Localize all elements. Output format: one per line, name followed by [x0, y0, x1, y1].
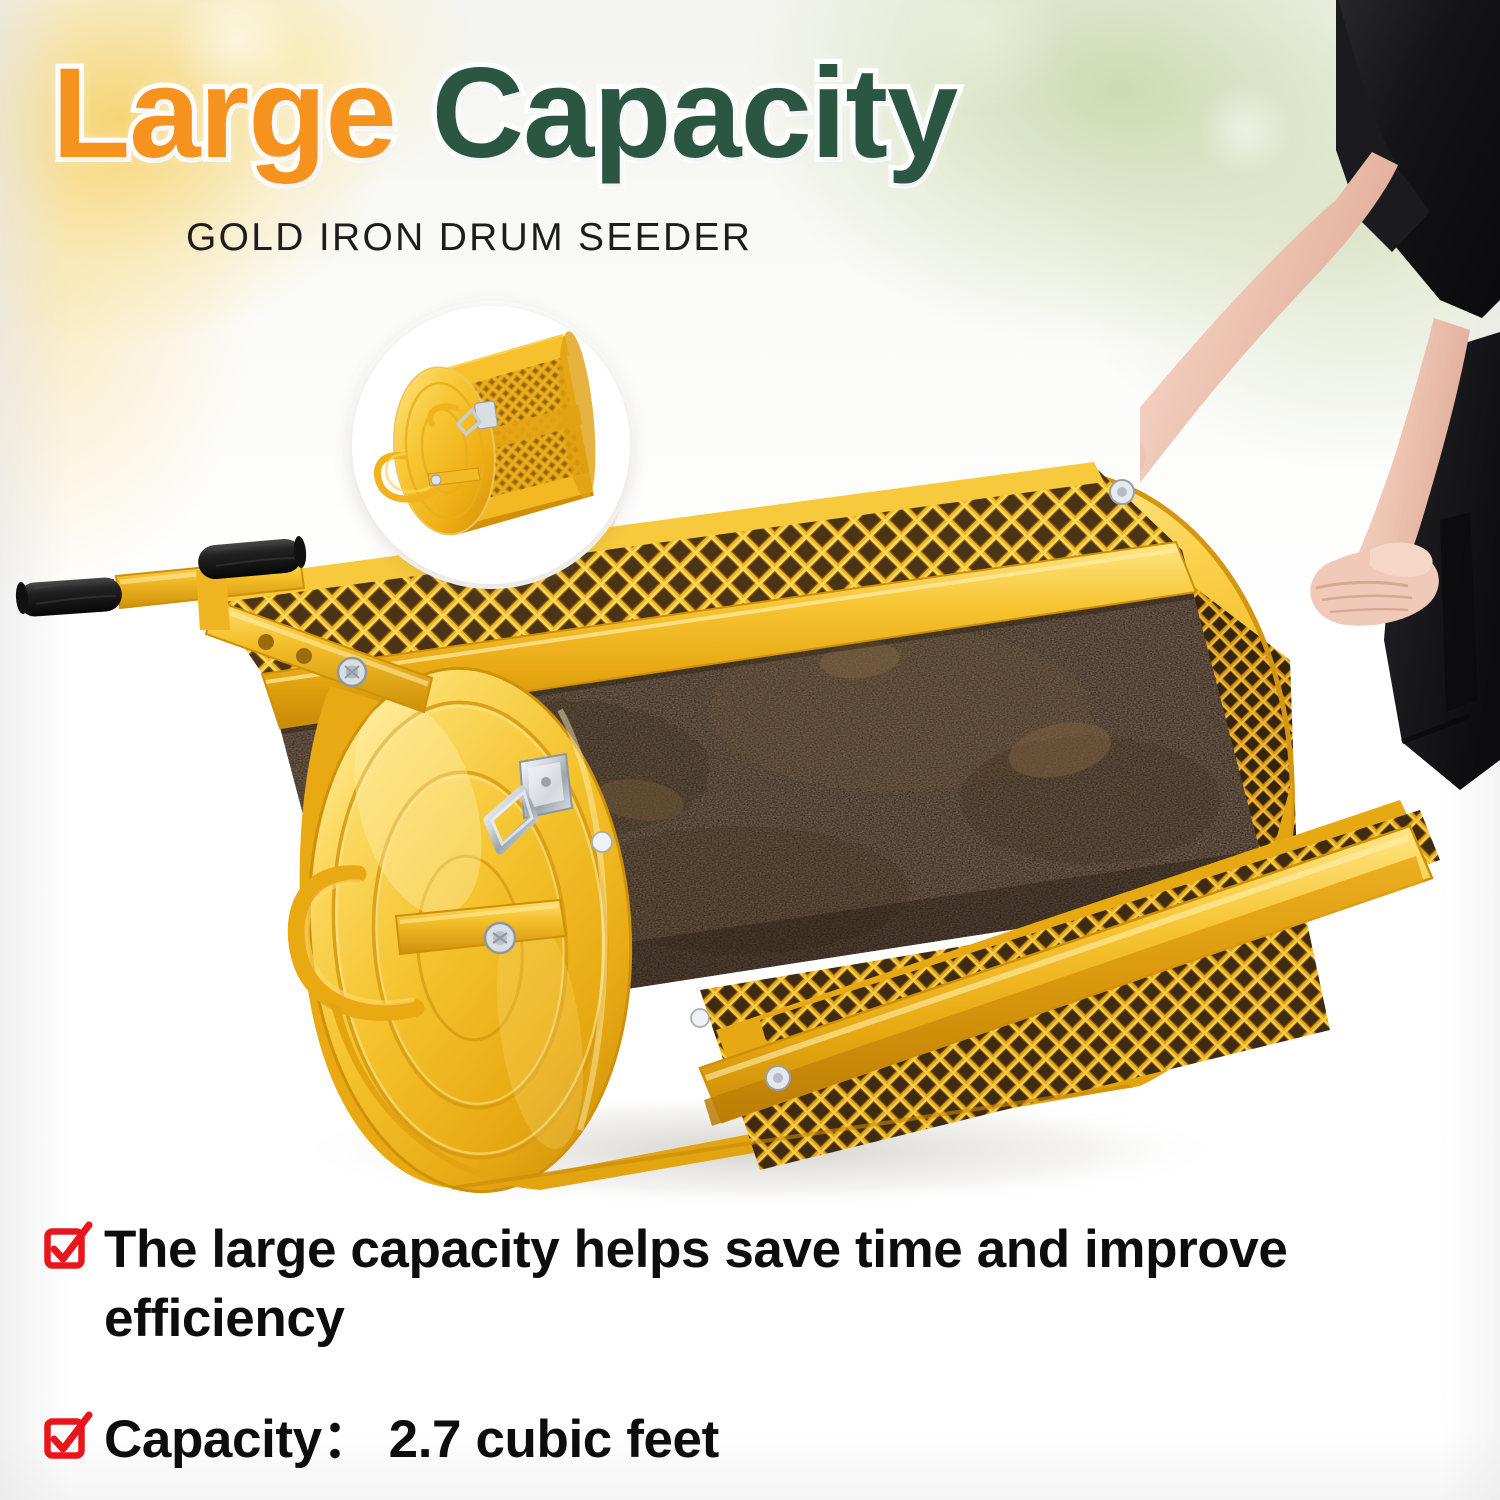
- headline-word-large: Large: [52, 46, 396, 182]
- feature-list: The large capacity helps save time and i…: [44, 1216, 1404, 1475]
- page-subtitle: GOLD IRON DRUM SEEDER: [186, 216, 752, 260]
- marketing-image-canvas: LargeCapacity GOLD IRON DRUM SEEDER The …: [0, 0, 1500, 1500]
- list-item: Capacity： 2.7 cubic feet: [44, 1406, 1404, 1475]
- feature-text: The large capacity helps save time and i…: [104, 1216, 1294, 1354]
- detail-inset-closed-drum: [352, 306, 630, 584]
- headline-word-capacity: Capacity: [432, 46, 958, 182]
- feature-text: Capacity： 2.7 cubic feet: [104, 1406, 719, 1475]
- checkbox-checked-icon: [44, 1415, 90, 1461]
- handle-grip-left: [15, 576, 123, 617]
- list-item: The large capacity helps save time and i…: [44, 1216, 1404, 1354]
- product-photo-drum-seeder: [0, 330, 1500, 1230]
- page-title: LargeCapacity: [52, 46, 1152, 182]
- checkbox-checked-icon: [44, 1225, 90, 1271]
